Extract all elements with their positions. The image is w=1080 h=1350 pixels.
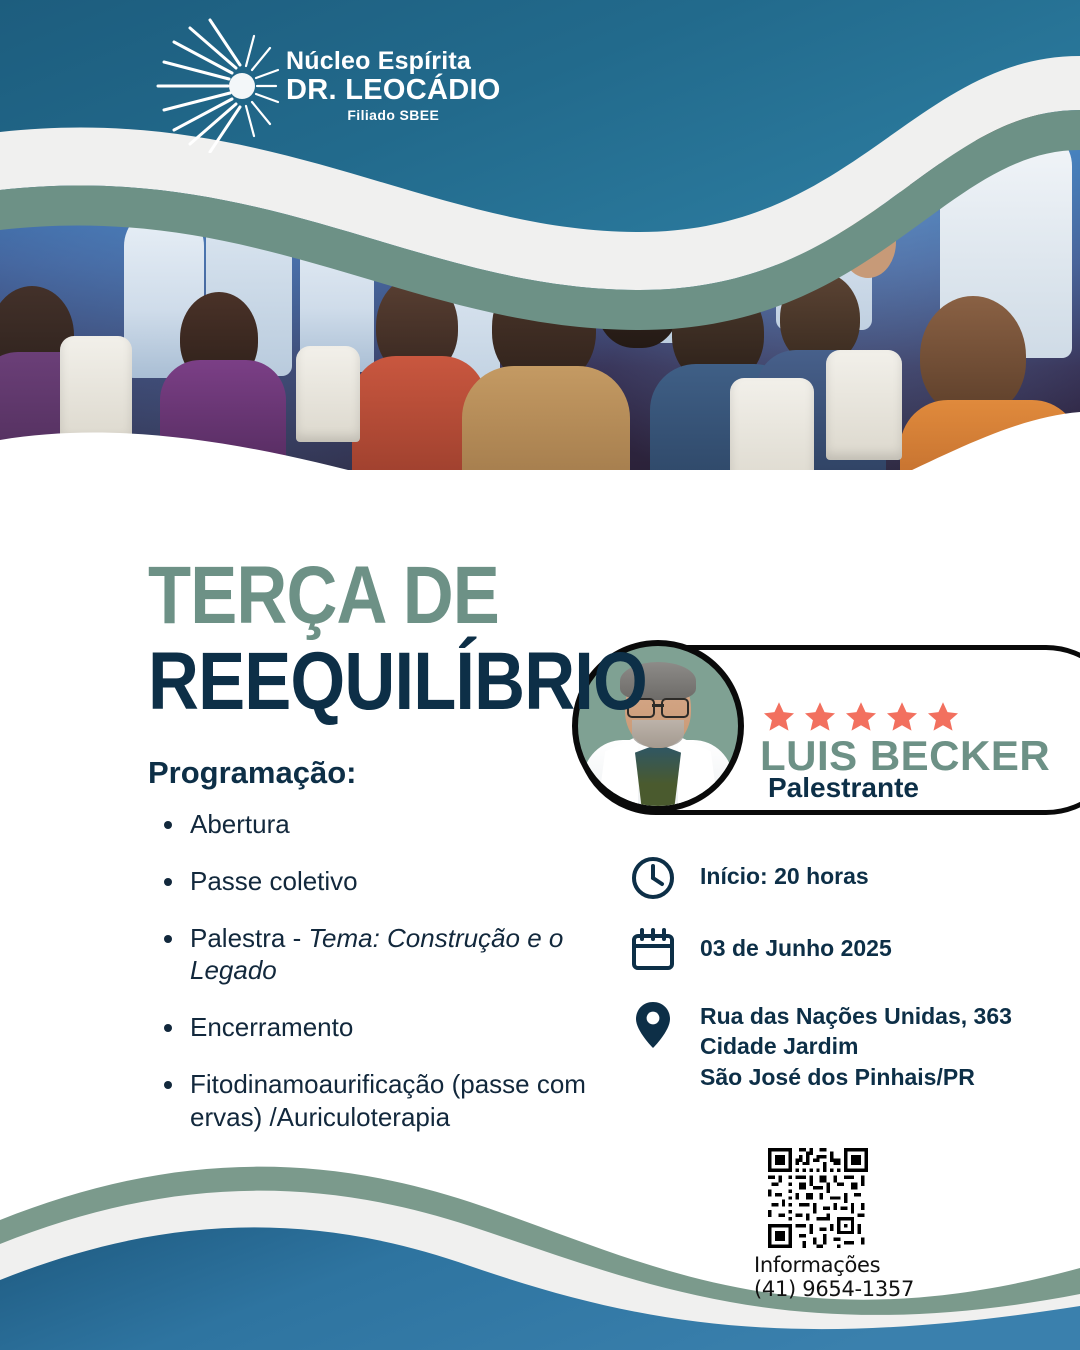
calendar-icon <box>630 927 676 973</box>
contact-block: Informações (41) 9654-1357 <box>768 1148 868 1301</box>
list-item: Encerramento <box>190 1011 650 1044</box>
brand-name-line2: DR. LEOCÁDIO <box>286 75 501 105</box>
contact-caption-line2: (41) 9654-1357 <box>754 1278 854 1302</box>
event-details: Início: 20 horas 03 de Junho 2025 <box>630 855 1050 1118</box>
list-item: Abertura <box>190 808 650 841</box>
star-icon <box>762 700 796 734</box>
detail-row-address: Rua das Nações Unidas, 363 Cidade Jardim… <box>630 999 1050 1092</box>
address-line-3: São José dos Pinhais/PR <box>700 1062 1012 1092</box>
address-line-1: Rua das Nações Unidas, 363 <box>700 1001 1012 1031</box>
detail-date-text: 03 de Junho 2025 <box>700 927 892 963</box>
detail-row-date: 03 de Junho 2025 <box>630 927 1050 973</box>
brand-affiliation: Filiado SBEE <box>286 108 501 123</box>
list-item: Passe coletivo <box>190 865 650 898</box>
qr-code-icon[interactable] <box>768 1148 868 1248</box>
title-line-2: REEQUILÍBRIO <box>148 642 647 722</box>
detail-row-time: Início: 20 horas <box>630 855 1050 901</box>
program-list: Abertura Passe coletivo Palestra - Tema:… <box>148 808 650 1157</box>
brand-name-line1: Núcleo Espírita <box>286 48 501 74</box>
address-line-2: Cidade Jardim <box>700 1031 1012 1061</box>
detail-address-text: Rua das Nações Unidas, 363 Cidade Jardim… <box>700 999 1012 1092</box>
brand-logo: Núcleo Espírita DR. LEOCÁDIO Filiado SBE… <box>150 18 570 153</box>
sunburst-icon <box>150 18 280 153</box>
contact-caption: Informações (41) 9654-1357 <box>754 1254 854 1301</box>
star-icon <box>926 700 960 734</box>
speaker-role: Palestrante <box>768 772 919 804</box>
poster-title: TERÇA DE REEQUILÍBRIO <box>148 556 728 723</box>
list-item: Fitodinamoaurificação (passe com ervas) … <box>190 1068 650 1134</box>
contact-caption-line1: Informações <box>754 1254 854 1278</box>
clock-icon <box>630 855 676 901</box>
star-icon <box>803 700 837 734</box>
program-label: Programação: <box>148 755 356 791</box>
detail-time-text: Início: 20 horas <box>700 855 869 891</box>
title-line-1: TERÇA DE <box>148 556 647 636</box>
list-item: Palestra - Tema: Construção e o Legado <box>190 922 650 988</box>
star-icon <box>885 700 919 734</box>
poster-canvas: Núcleo Espírita DR. LEOCÁDIO Filiado SBE… <box>0 0 1080 1350</box>
map-pin-icon <box>630 999 676 1051</box>
star-icon <box>844 700 878 734</box>
speaker-rating-stars <box>762 700 960 734</box>
